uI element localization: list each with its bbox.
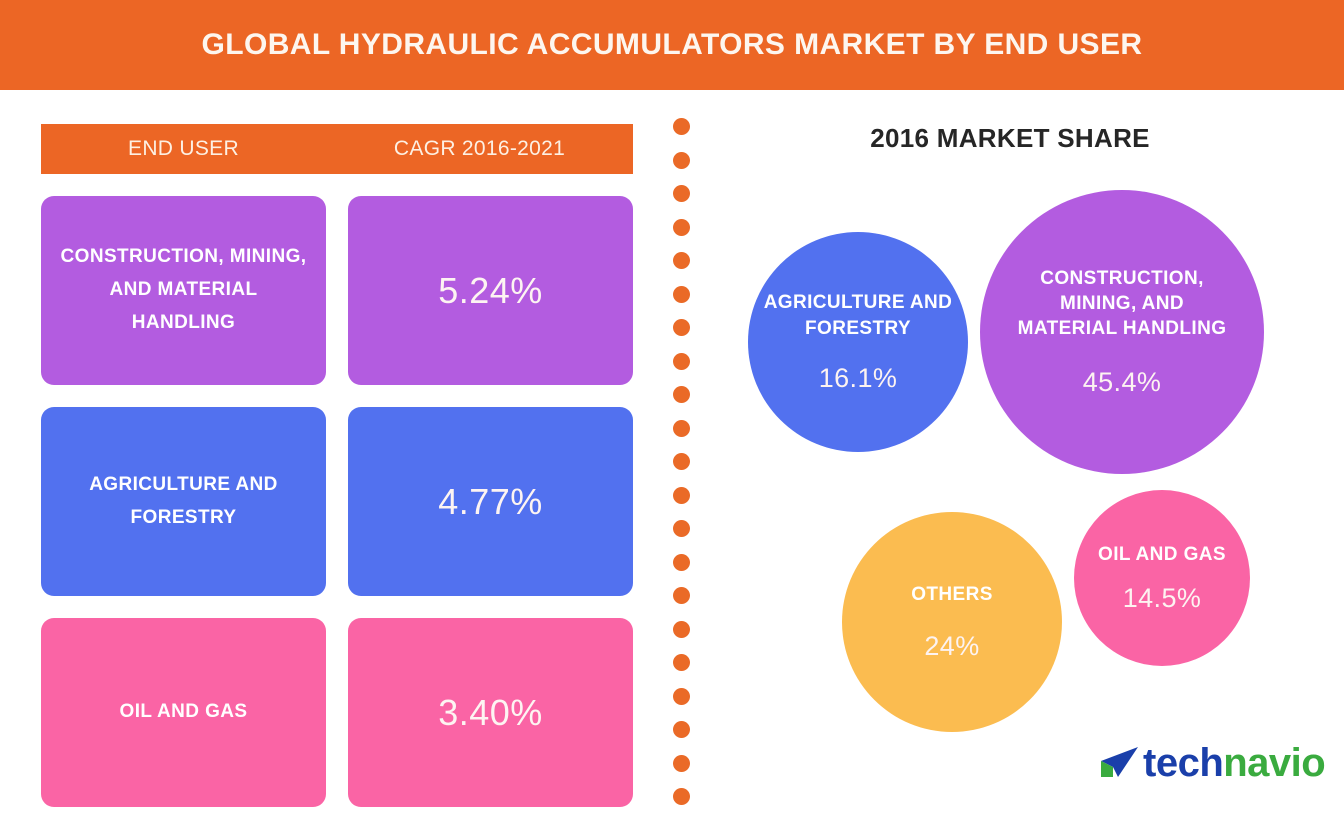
divider-dot (673, 118, 690, 135)
divider-dot (673, 286, 690, 303)
table-cell-cagr: 3.40% (348, 618, 633, 807)
bubble-label: OIL AND GAS (1077, 542, 1247, 567)
logo-text-navio: navio (1223, 741, 1325, 785)
market-share-title: 2016 MARKET SHARE (700, 123, 1320, 154)
bubble-value: 24% (924, 631, 979, 662)
logo-text-tech: tech (1143, 741, 1223, 785)
bubble-0: AGRICULTURE AND FORESTRY16.1% (748, 232, 968, 452)
divider-dot (673, 654, 690, 671)
table-cell-cagr: 5.24% (348, 196, 633, 385)
divider-dot (673, 353, 690, 370)
table-row: CONSTRUCTION, MINING, AND MATERIAL HANDL… (41, 196, 633, 385)
title-banner: GLOBAL HYDRAULIC ACCUMULATORS MARKET BY … (0, 0, 1344, 90)
logo-wordmark: technavio (1143, 743, 1325, 783)
bubble-label: AGRICULTURE AND FORESTRY (763, 290, 953, 340)
divider-dot (673, 319, 690, 336)
divider-dot (673, 721, 690, 738)
bubble-1: CONSTRUCTION, MINING, AND MATERIAL HANDL… (980, 190, 1264, 474)
technavio-arrow-icon (1098, 743, 1142, 783)
table-cell-end-user: OIL AND GAS (41, 618, 326, 807)
end-user-table: END USER CAGR 2016-2021 CONSTRUCTION, MI… (41, 124, 633, 784)
divider-dot (673, 420, 690, 437)
divider-dot (673, 688, 690, 705)
column-header-end-user: END USER (41, 124, 326, 174)
divider-dot (673, 621, 690, 638)
divider-dot (673, 386, 690, 403)
table-row: AGRICULTURE AND FORESTRY 4.77% (41, 407, 633, 596)
bubble-label: OTHERS (857, 582, 1047, 607)
column-header-cagr: CAGR 2016-2021 (326, 124, 633, 174)
page-title: GLOBAL HYDRAULIC ACCUMULATORS MARKET BY … (0, 0, 1344, 90)
divider-dot (673, 520, 690, 537)
technavio-logo: technavio (1098, 738, 1306, 788)
bubble-value: 16.1% (819, 363, 898, 394)
bubble-3: OIL AND GAS14.5% (1074, 490, 1250, 666)
divider-dot (673, 755, 690, 772)
table-header-row: END USER CAGR 2016-2021 (41, 124, 633, 174)
divider-dot (673, 453, 690, 470)
bubble-value: 45.4% (1083, 367, 1162, 398)
table-cell-end-user: AGRICULTURE AND FORESTRY (41, 407, 326, 596)
bubble-2: OTHERS24% (842, 512, 1062, 732)
dotted-divider (673, 118, 691, 818)
bubble-label: CONSTRUCTION, MINING, AND MATERIAL HANDL… (1015, 266, 1230, 341)
divider-dot (673, 252, 690, 269)
divider-dot (673, 185, 690, 202)
divider-dot (673, 554, 690, 571)
divider-dot (673, 152, 690, 169)
table-cell-cagr: 4.77% (348, 407, 633, 596)
divider-dot (673, 788, 690, 805)
divider-dot (673, 219, 690, 236)
table-cell-end-user: CONSTRUCTION, MINING, AND MATERIAL HANDL… (41, 196, 326, 385)
bubble-value: 14.5% (1123, 583, 1202, 614)
divider-dot (673, 587, 690, 604)
divider-dot (673, 487, 690, 504)
table-row: OIL AND GAS 3.40% (41, 618, 633, 807)
